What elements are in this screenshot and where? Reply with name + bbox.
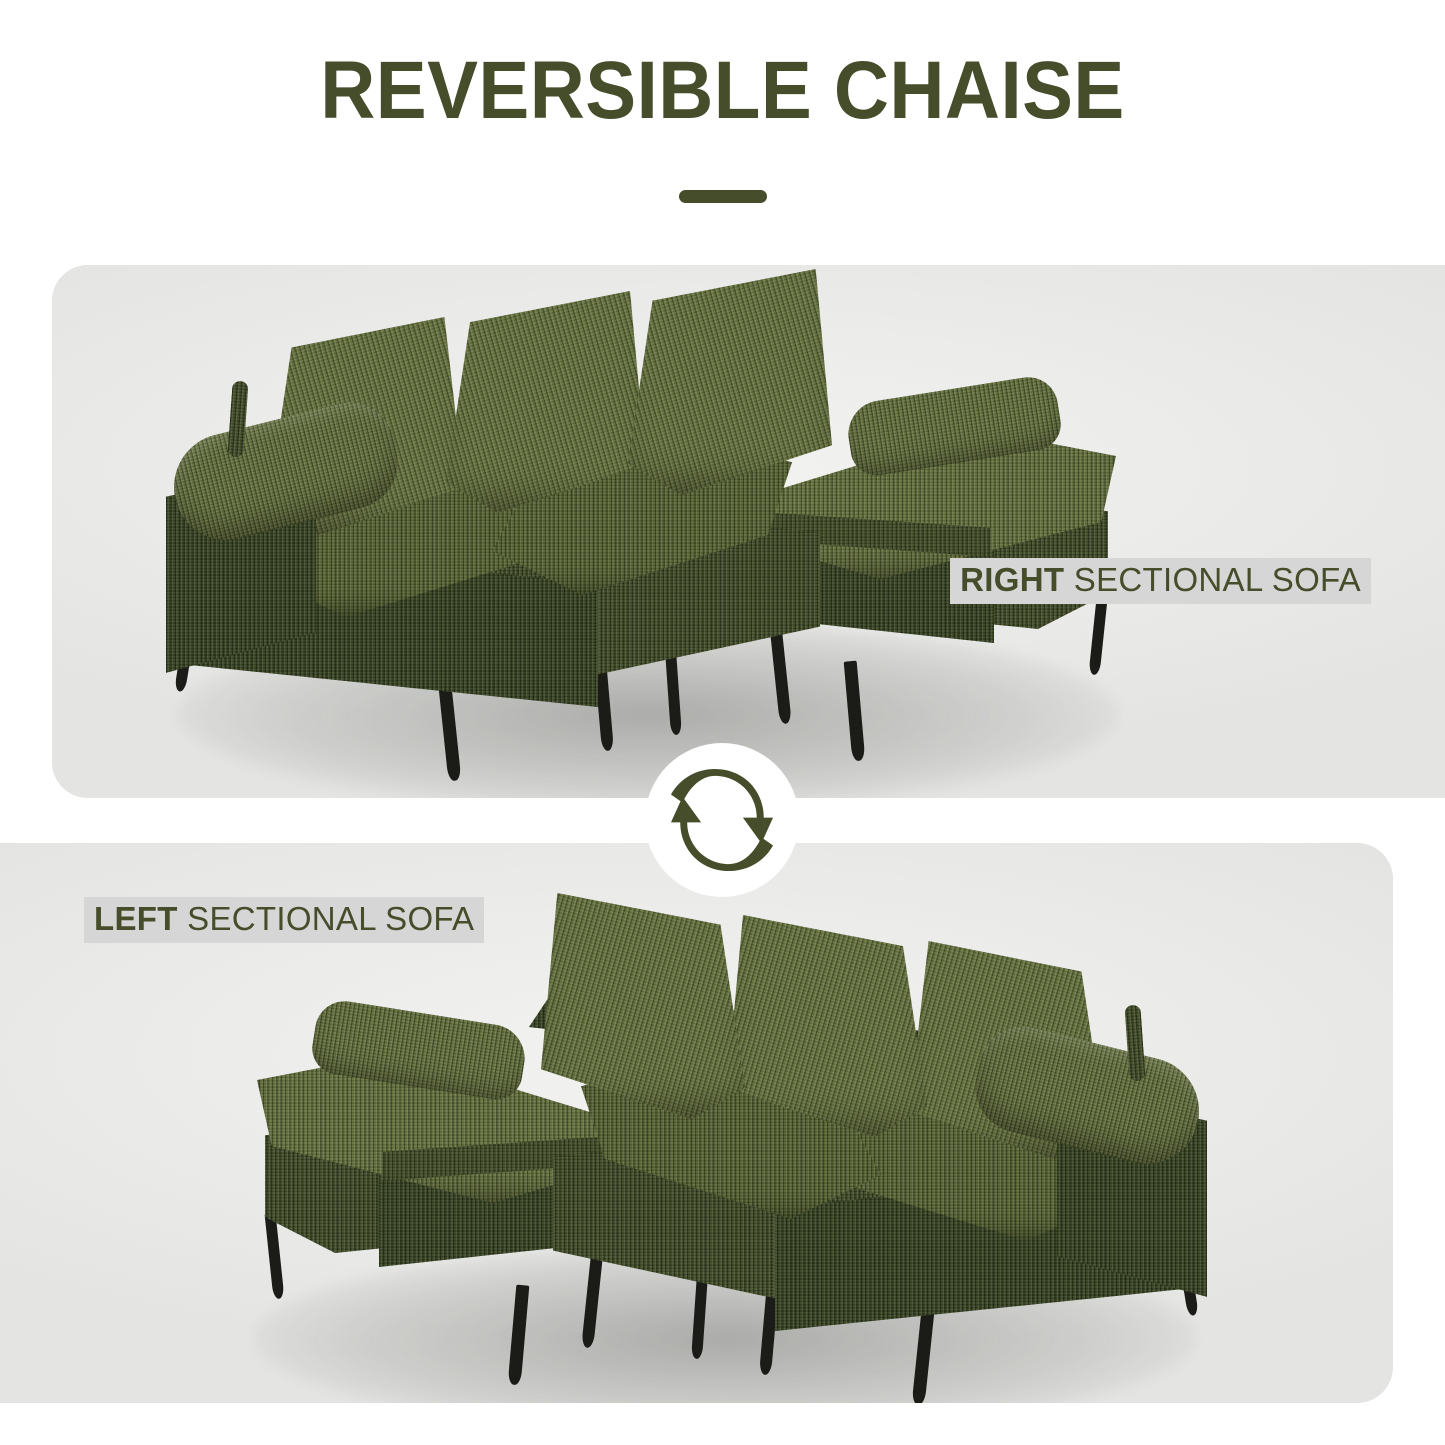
left-sectional-label: LEFT SECTIONAL SOFA	[84, 897, 484, 943]
sofa-leg	[265, 1213, 285, 1300]
right-sectional-label-strong: RIGHT	[960, 561, 1064, 598]
right-sectional-label-regular: SECTIONAL SOFA	[1064, 561, 1361, 598]
infographic-page: REVERSIBLE CHAISE	[0, 0, 1445, 1445]
right-sectional-label: RIGHT SECTIONAL SOFA	[950, 558, 1371, 604]
back-cushion-3	[628, 269, 832, 495]
reverse-arrows-glyph	[664, 762, 780, 878]
back-cushion-3	[541, 893, 745, 1119]
right-sectional-sofa-image	[148, 269, 1158, 798]
header: REVERSIBLE CHAISE	[0, 0, 1445, 250]
right-sectional-panel: RIGHT SECTIONAL SOFA	[52, 265, 1445, 798]
left-sectional-label-strong: LEFT	[94, 900, 178, 937]
left-sectional-panel: LEFT SECTIONAL SOFA	[0, 843, 1393, 1403]
title-divider-dash	[679, 190, 767, 203]
reverse-arrows-icon[interactable]	[645, 743, 799, 897]
left-sectional-label-regular: SECTIONAL SOFA	[178, 900, 475, 937]
left-sectional-sofa-image	[215, 893, 1225, 1403]
page-title: REVERSIBLE CHAISE	[51, 44, 1395, 138]
